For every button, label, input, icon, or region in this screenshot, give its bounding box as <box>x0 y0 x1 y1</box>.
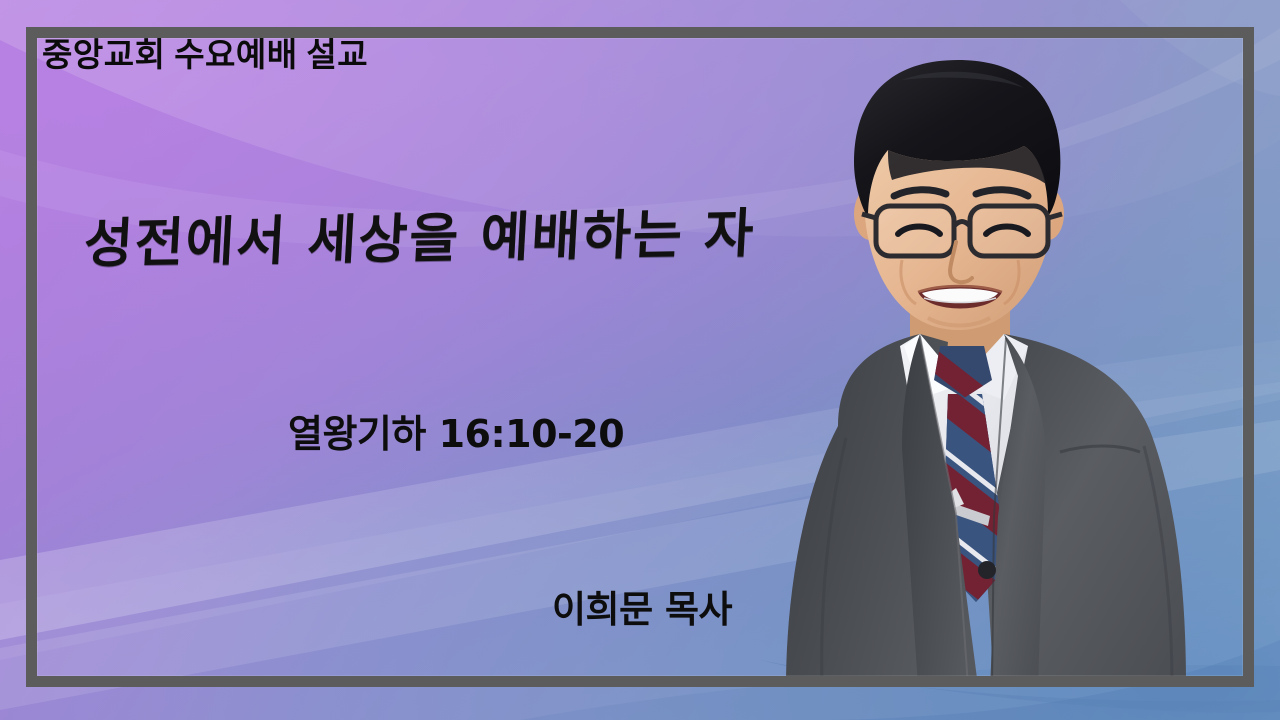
series-label: 중앙교회 수요예배 설교 <box>42 36 368 77</box>
scripture-reference: 열왕기하 16:10-20 <box>288 412 624 458</box>
sermon-title: 성전에서 세상을 예배하는 자 <box>82 203 806 276</box>
sermon-title-slide: 중앙교회 수요예배 설교 성전에서 세상을 예배하는 자 열왕기하 16:10-… <box>0 0 1280 720</box>
speaker-name: 이희문 목사 <box>552 588 732 632</box>
